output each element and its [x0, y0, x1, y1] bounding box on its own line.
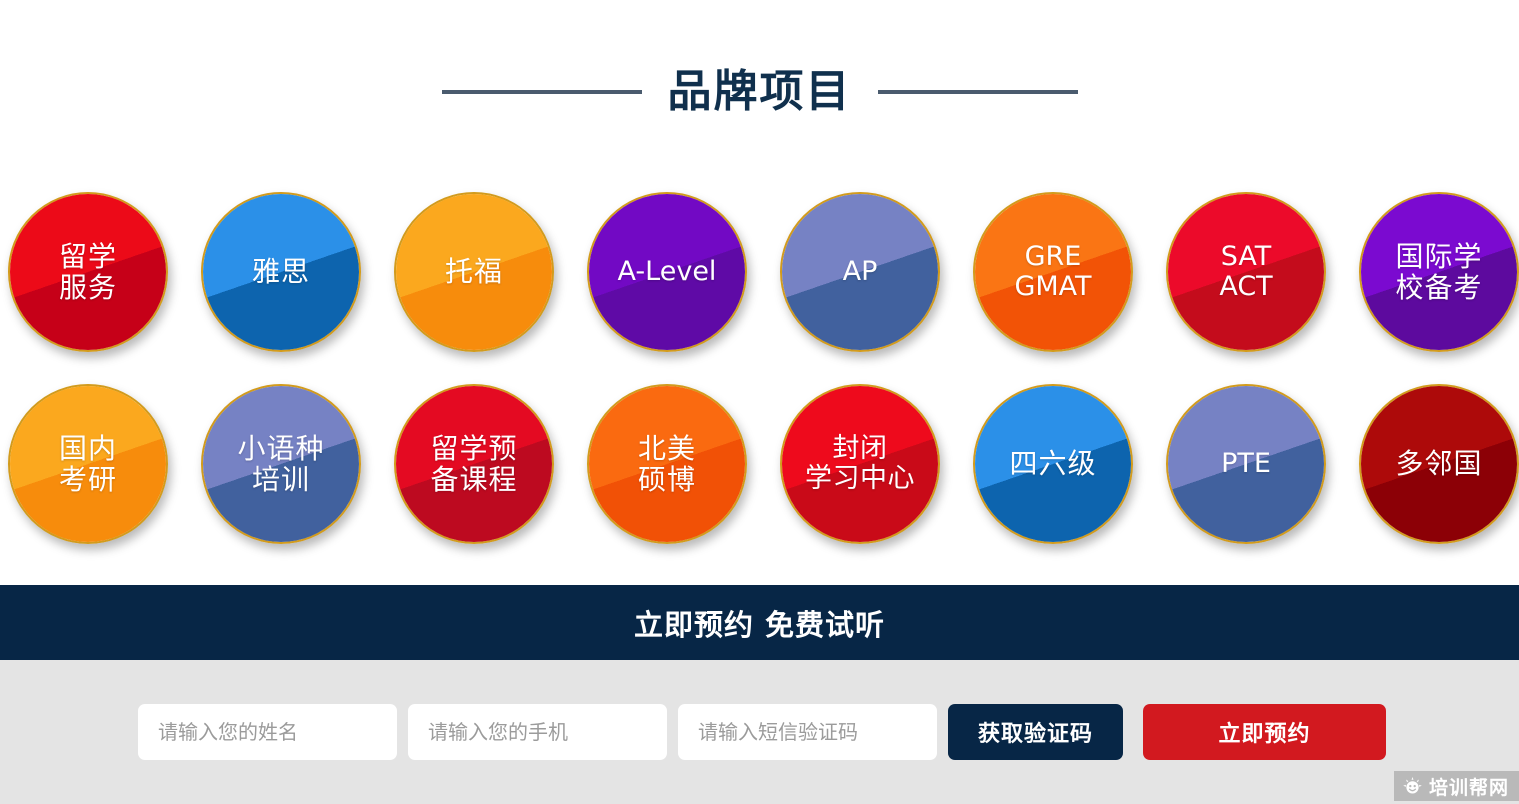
program-bubble-label: 托福 — [445, 256, 503, 287]
sms-code-input[interactable] — [678, 704, 937, 760]
program-bubble-label: 留学 服务 — [59, 241, 117, 304]
program-bubble-label: 小语种 培训 — [237, 433, 324, 496]
smiling-sun-icon — [1402, 776, 1423, 797]
program-bubble[interactable]: 留学 服务 — [8, 192, 168, 352]
program-bubble[interactable]: GRE GMAT — [973, 192, 1133, 352]
page-title: 品牌项目 — [668, 70, 852, 114]
program-bubble[interactable]: A-Level — [587, 192, 747, 352]
program-row-1: 留学 服务雅思托福A-LevelAPGRE GMATSAT ACT国际学 校备考 — [0, 176, 1519, 368]
program-bubble-label: PTE — [1221, 449, 1271, 479]
program-bubble-label: 封闭 学习中心 — [782, 434, 938, 494]
phone-input[interactable] — [408, 704, 667, 760]
program-bubble-label: AP — [843, 257, 878, 287]
program-bubble-label: GRE GMAT — [1014, 242, 1091, 302]
program-bubble-label: 北美 硕博 — [638, 433, 696, 496]
name-input[interactable] — [138, 704, 397, 760]
submit-appointment-button[interactable]: 立即预约 — [1143, 704, 1386, 760]
program-bubble-label: SAT ACT — [1219, 242, 1272, 302]
appointment-form: 获取验证码 立即预约 — [0, 660, 1519, 804]
program-bubble[interactable]: 国际学 校备考 — [1359, 192, 1519, 352]
program-bubble-label: 国内 考研 — [59, 433, 117, 496]
program-bubble[interactable]: 北美 硕博 — [587, 384, 747, 544]
program-bubble-label: 留学预 备课程 — [430, 433, 517, 496]
program-bubble-label: 多邻国 — [1395, 448, 1482, 479]
program-bubble[interactable]: 留学预 备课程 — [394, 384, 554, 544]
get-verification-code-button[interactable]: 获取验证码 — [948, 704, 1123, 760]
program-bubble-label: 雅思 — [252, 256, 310, 287]
section-title-row: 品牌项目 — [0, 0, 1519, 176]
program-bubble-label: A-Level — [618, 257, 717, 287]
program-bubble[interactable]: 封闭 学习中心 — [780, 384, 940, 544]
cta-banner: 立即预约 免费试听 — [0, 585, 1519, 660]
title-rule-left — [442, 90, 642, 94]
program-bubble-label: 四六级 — [1009, 448, 1096, 479]
program-bubble[interactable]: SAT ACT — [1166, 192, 1326, 352]
program-bubble[interactable]: 雅思 — [201, 192, 361, 352]
site-watermark: 培训帮网 — [1394, 771, 1519, 801]
program-bubble-grid: 留学 服务雅思托福A-LevelAPGRE GMATSAT ACT国际学 校备考… — [0, 176, 1519, 560]
program-bubble[interactable]: PTE — [1166, 384, 1326, 544]
program-bubble[interactable]: AP — [780, 192, 940, 352]
program-row-2: 国内 考研小语种 培训留学预 备课程北美 硕博封闭 学习中心四六级PTE多邻国 — [0, 368, 1519, 560]
program-bubble[interactable]: 托福 — [394, 192, 554, 352]
title-rule-right — [878, 90, 1078, 94]
program-bubble[interactable]: 四六级 — [973, 384, 1133, 544]
program-bubble-label: 国际学 校备考 — [1395, 241, 1482, 304]
program-bubble[interactable]: 小语种 培训 — [201, 384, 361, 544]
program-bubble[interactable]: 国内 考研 — [8, 384, 168, 544]
cta-banner-text: 立即预约 免费试听 — [634, 602, 885, 644]
program-bubble[interactable]: 多邻国 — [1359, 384, 1519, 544]
watermark-text: 培训帮网 — [1429, 773, 1509, 800]
